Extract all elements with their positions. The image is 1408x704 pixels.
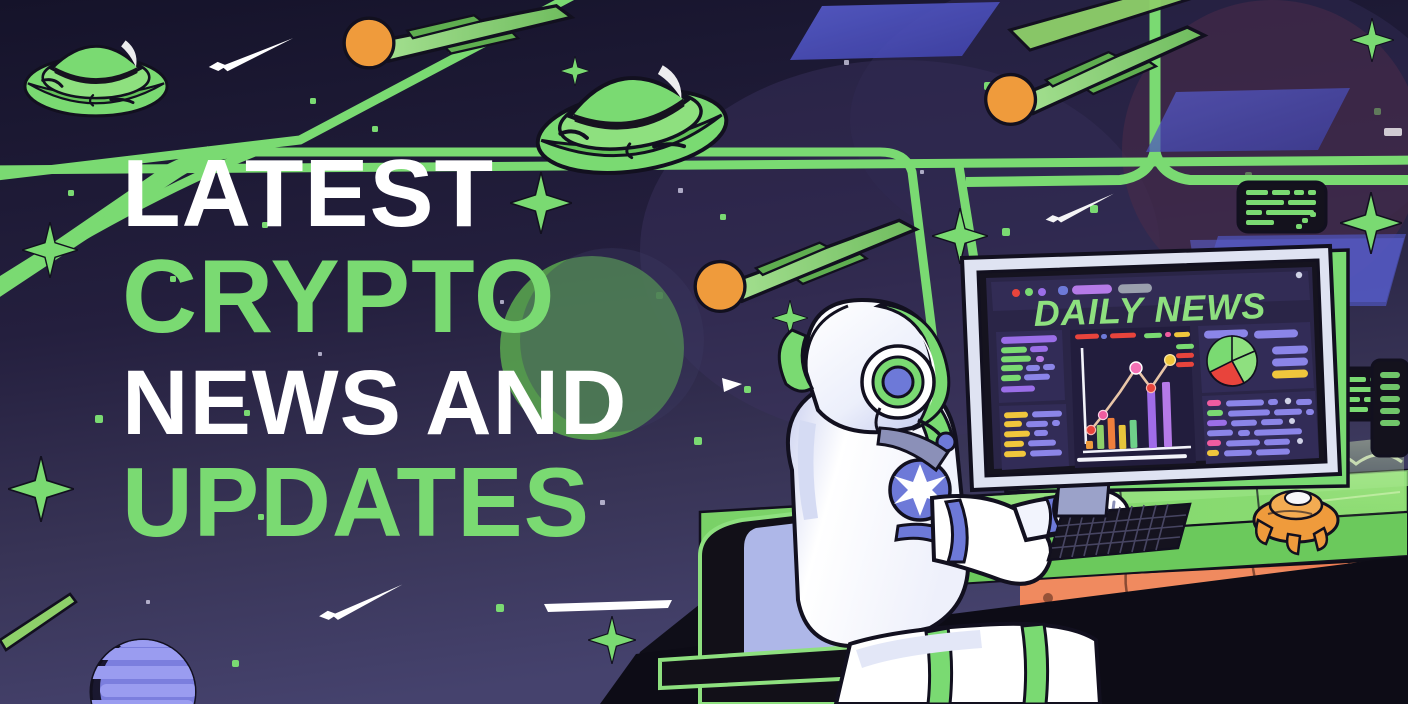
headline-line-2: CRYPTO bbox=[122, 239, 556, 355]
main-monitor[interactable]: DAILY NEWS bbox=[962, 246, 1348, 516]
dashboard-left-column bbox=[996, 330, 1069, 470]
upper-right-terminal[interactable] bbox=[1238, 182, 1326, 232]
right-edge-panel bbox=[1372, 360, 1408, 456]
chart-legend bbox=[1176, 344, 1194, 368]
crypto-news-hero-banner: DAILY NEWS bbox=[0, 0, 1408, 704]
illustration-canvas: DAILY NEWS bbox=[0, 0, 1408, 704]
leg-band-2 bbox=[1022, 624, 1048, 704]
browser-menu-dot bbox=[1296, 272, 1302, 278]
pie-chart bbox=[1207, 336, 1257, 386]
glass-marker bbox=[1384, 128, 1402, 136]
pie-legend-bars bbox=[1272, 345, 1308, 378]
headline-line-3: NEWS AND bbox=[122, 352, 627, 454]
dashboard-center-panel bbox=[1070, 326, 1196, 468]
headline-line-4: UPDATES bbox=[122, 447, 590, 557]
glass-pane-right-a bbox=[1146, 88, 1350, 152]
headline-line-1: LATEST bbox=[122, 140, 494, 247]
